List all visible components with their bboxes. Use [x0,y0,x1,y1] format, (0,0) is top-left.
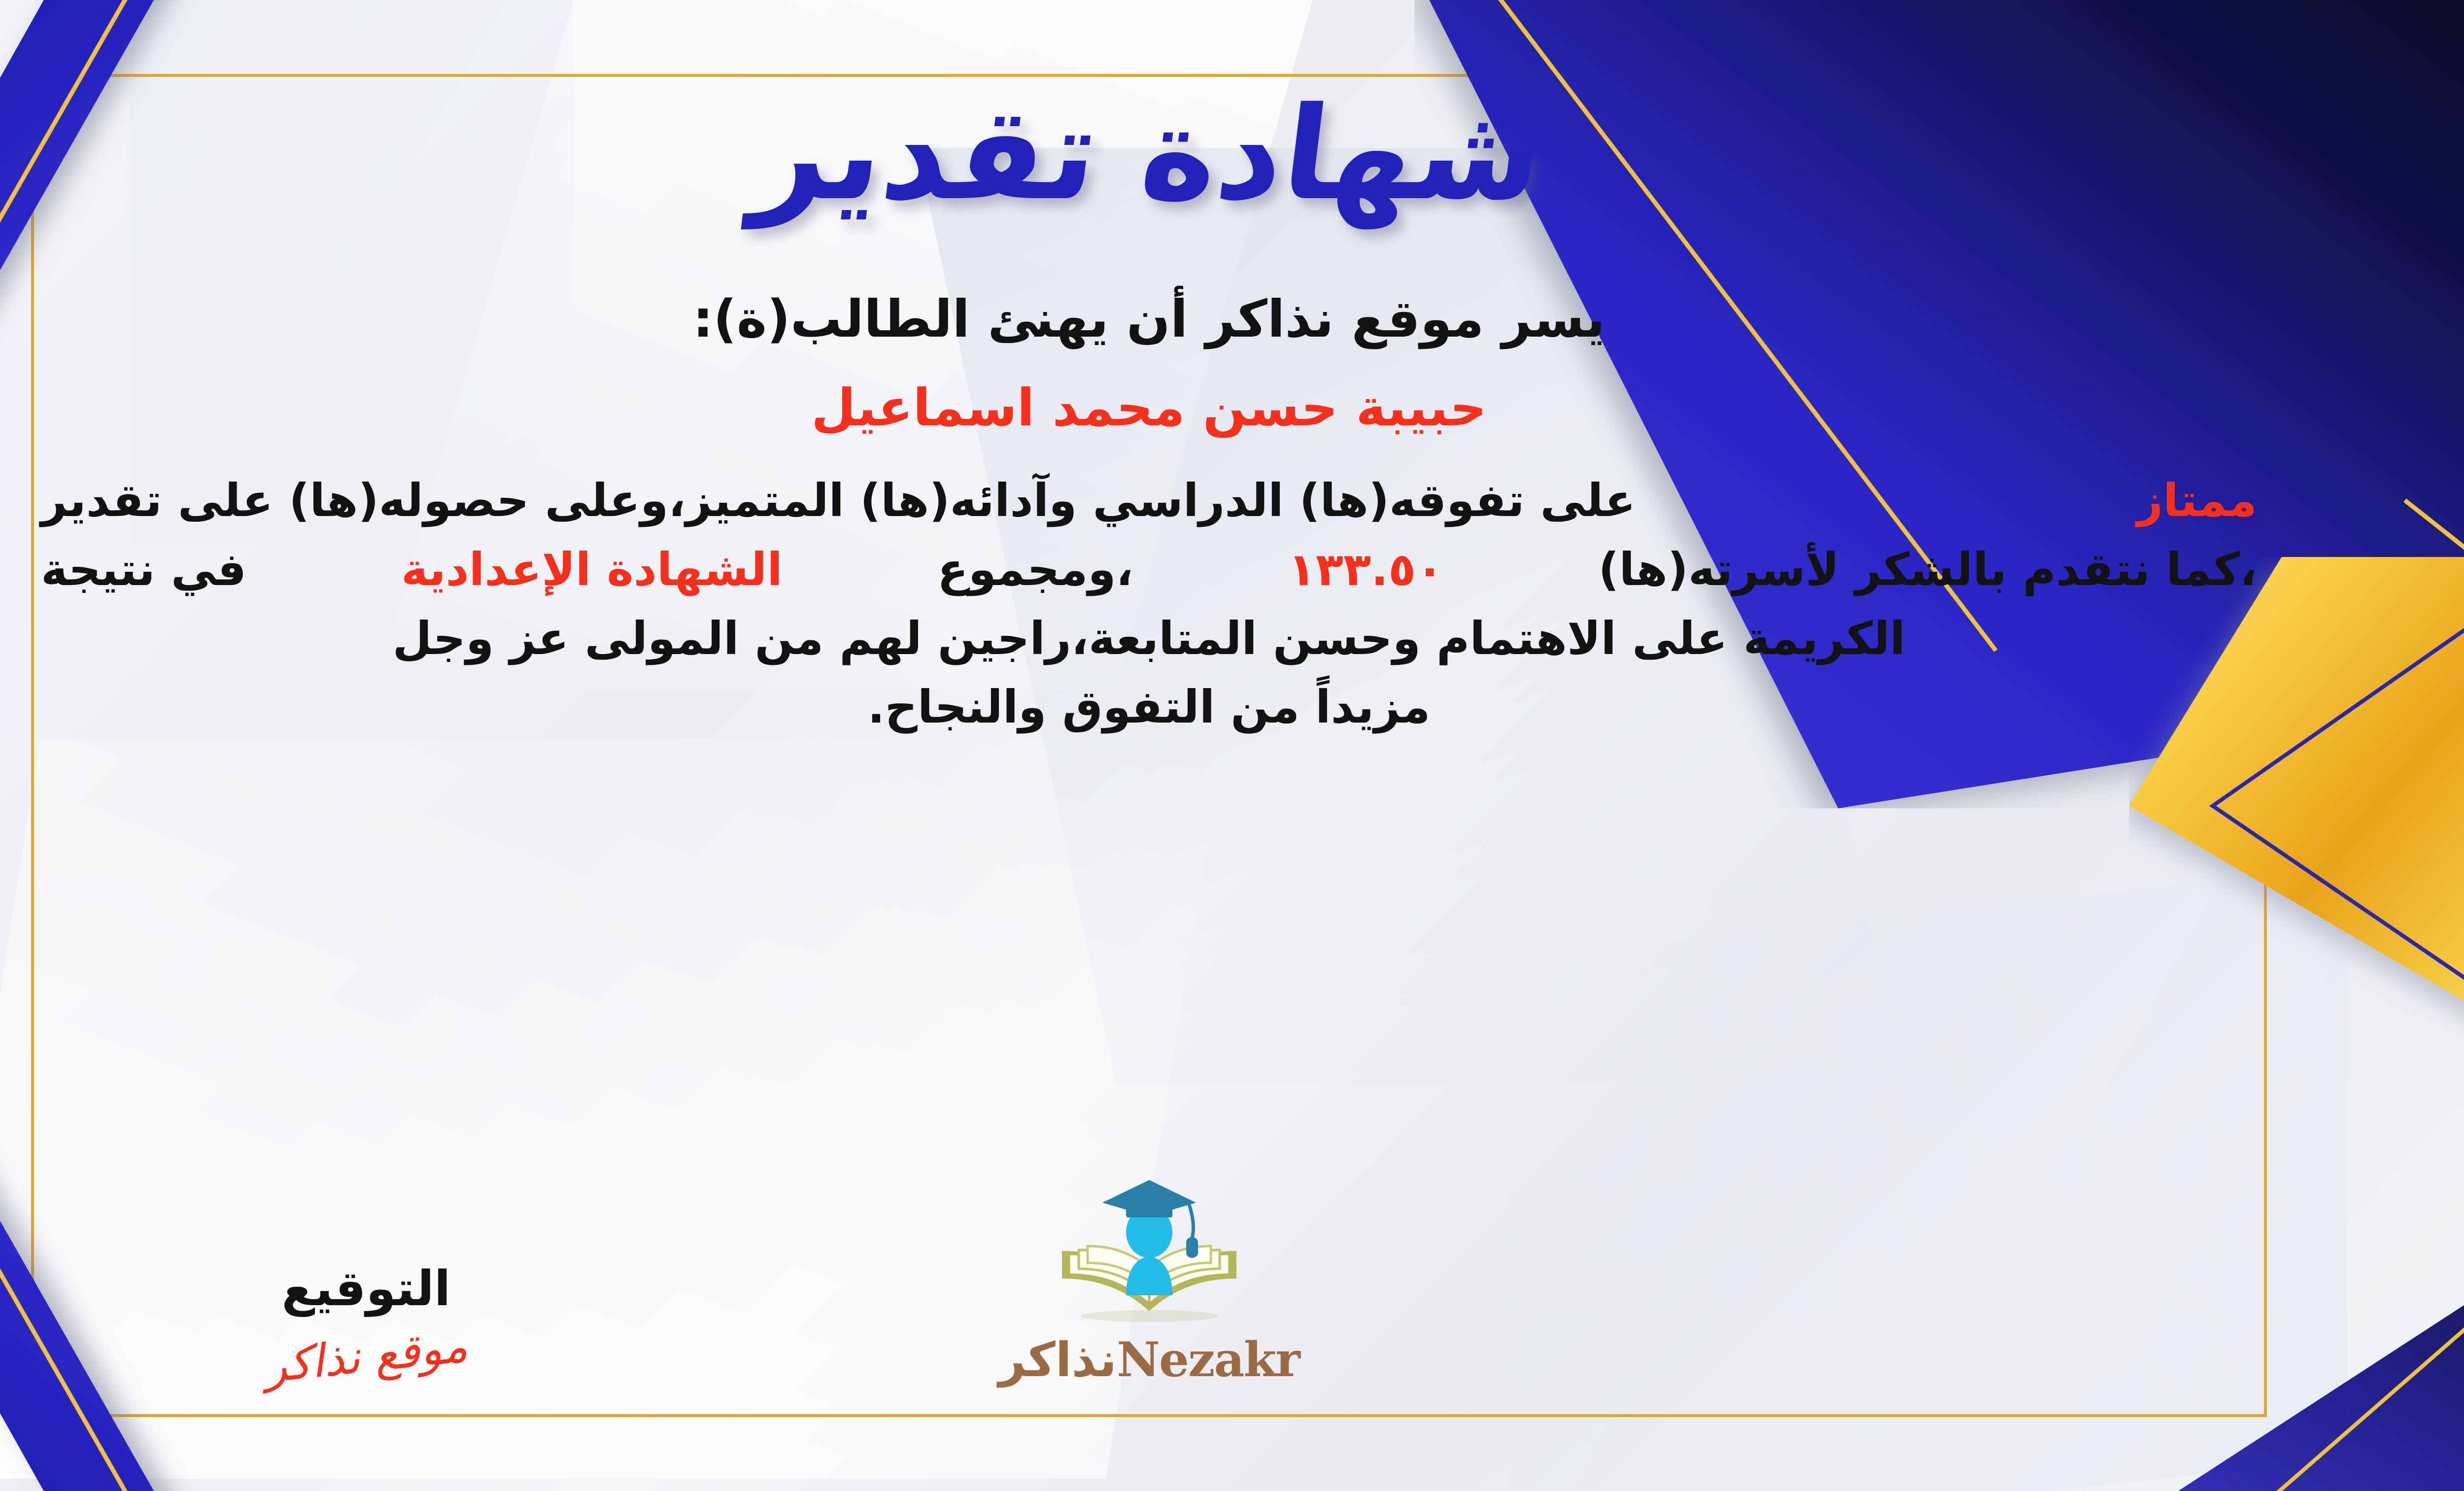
signature-label: التوقيع [194,1261,539,1317]
graduate-on-open-book-icon [1038,1177,1260,1335]
signature-mark: موقع نذاكر [262,1319,470,1393]
grade-value: ممتاز [2137,466,2257,535]
certificate-footer: التوقيع موقع نذاكر [31,1097,2267,1402]
brand-latin-text: Nezakr [1117,1332,1300,1387]
certificate-canvas: شهادة تقدير يسر موقع نذاكر أن يهنئ الطال… [0,0,2464,1491]
body-line-4: مزيداً من التفوق والنجاح. [31,673,2267,742]
total-score-value: ١٣٣.٥٠ [1288,535,1444,604]
certificate-body: ممتاز على تفوقه(ها) الدراسي وآدائه(ها) ا… [31,466,2267,742]
student-name: حبيبة حسن محمد اسماعيل [811,378,1487,438]
brand-arabic-text: نذاكر [998,1332,1117,1387]
signature-block: التوقيع موقع نذاكر [194,1261,539,1383]
body-line-2-tail: ،كما نتقدم بالشكر لأسرته(ها) [1598,535,2257,604]
brand-logo-block: Nezakrنذاكر [972,1177,1327,1387]
brand-wordmark: Nezakrنذاكر [972,1332,1327,1387]
body-line-2-head: في نتيجة [41,535,246,604]
body-line-2: ،كما نتقدم بالشكر لأسرته(ها) ١٣٣.٥٠ ،ومج… [31,535,2267,604]
certificate-title: شهادة تقدير [747,84,1551,225]
exam-name-value: الشهادة الإعدادية [401,535,783,604]
body-line-1: ممتاز على تفوقه(ها) الدراسي وآدائه(ها) ا… [31,466,2267,535]
body-line-3: الكريمة على الاهتمام وحسن المتابعة،راجين… [31,604,2267,673]
body-line-1-text: على تفوقه(ها) الدراسي وآدائه(ها) المتميز… [41,466,1636,535]
body-line-2-mid: ،ومجموع [937,535,1133,604]
salutation-line: يسر موقع نذاكر أن يهنئ الطالب(ة): [693,289,1605,349]
